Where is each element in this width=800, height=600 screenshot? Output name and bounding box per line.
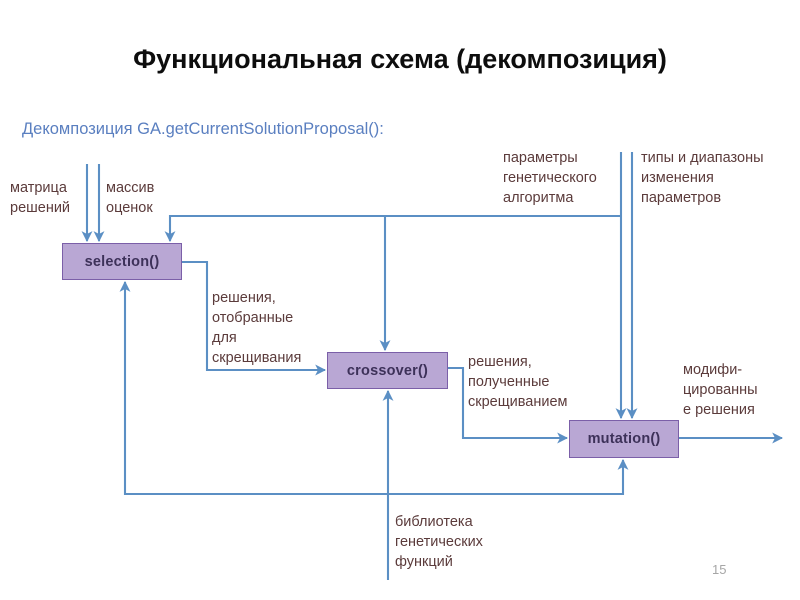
node-mutation-label: mutation() (588, 431, 661, 447)
connector-ga-params-horizontal-bus (170, 216, 621, 241)
label-array-of-estimates: массив оценок (106, 178, 154, 218)
node-mutation[interactable]: mutation() (569, 420, 679, 458)
label-modified-solutions: модифи- цированны е решения (683, 360, 758, 420)
label-ga-parameters: параметры генетического алгоритма (503, 148, 597, 208)
label-matrix-of-solutions: матрица решений (10, 178, 70, 218)
diagram-connectors (0, 0, 800, 600)
node-selection-label: selection() (85, 254, 160, 270)
connector-library-to-mutation (388, 460, 623, 494)
label-param-types-and-ranges: типы и диапазоны изменения параметров (641, 148, 764, 208)
label-selected-for-crossing: решения, отобранные для скрещивания (212, 288, 301, 368)
node-crossover[interactable]: crossover() (327, 352, 448, 389)
node-crossover-label: crossover() (347, 363, 428, 379)
page-number: 15 (712, 562, 726, 577)
label-obtained-by-crossing: решения, полученные скрещиванием (468, 352, 568, 412)
node-selection[interactable]: selection() (62, 243, 182, 280)
label-genetic-function-library: библиотека генетических функций (395, 512, 483, 572)
slide-canvas: Функциональная схема (декомпозиция) Деко… (0, 0, 800, 600)
